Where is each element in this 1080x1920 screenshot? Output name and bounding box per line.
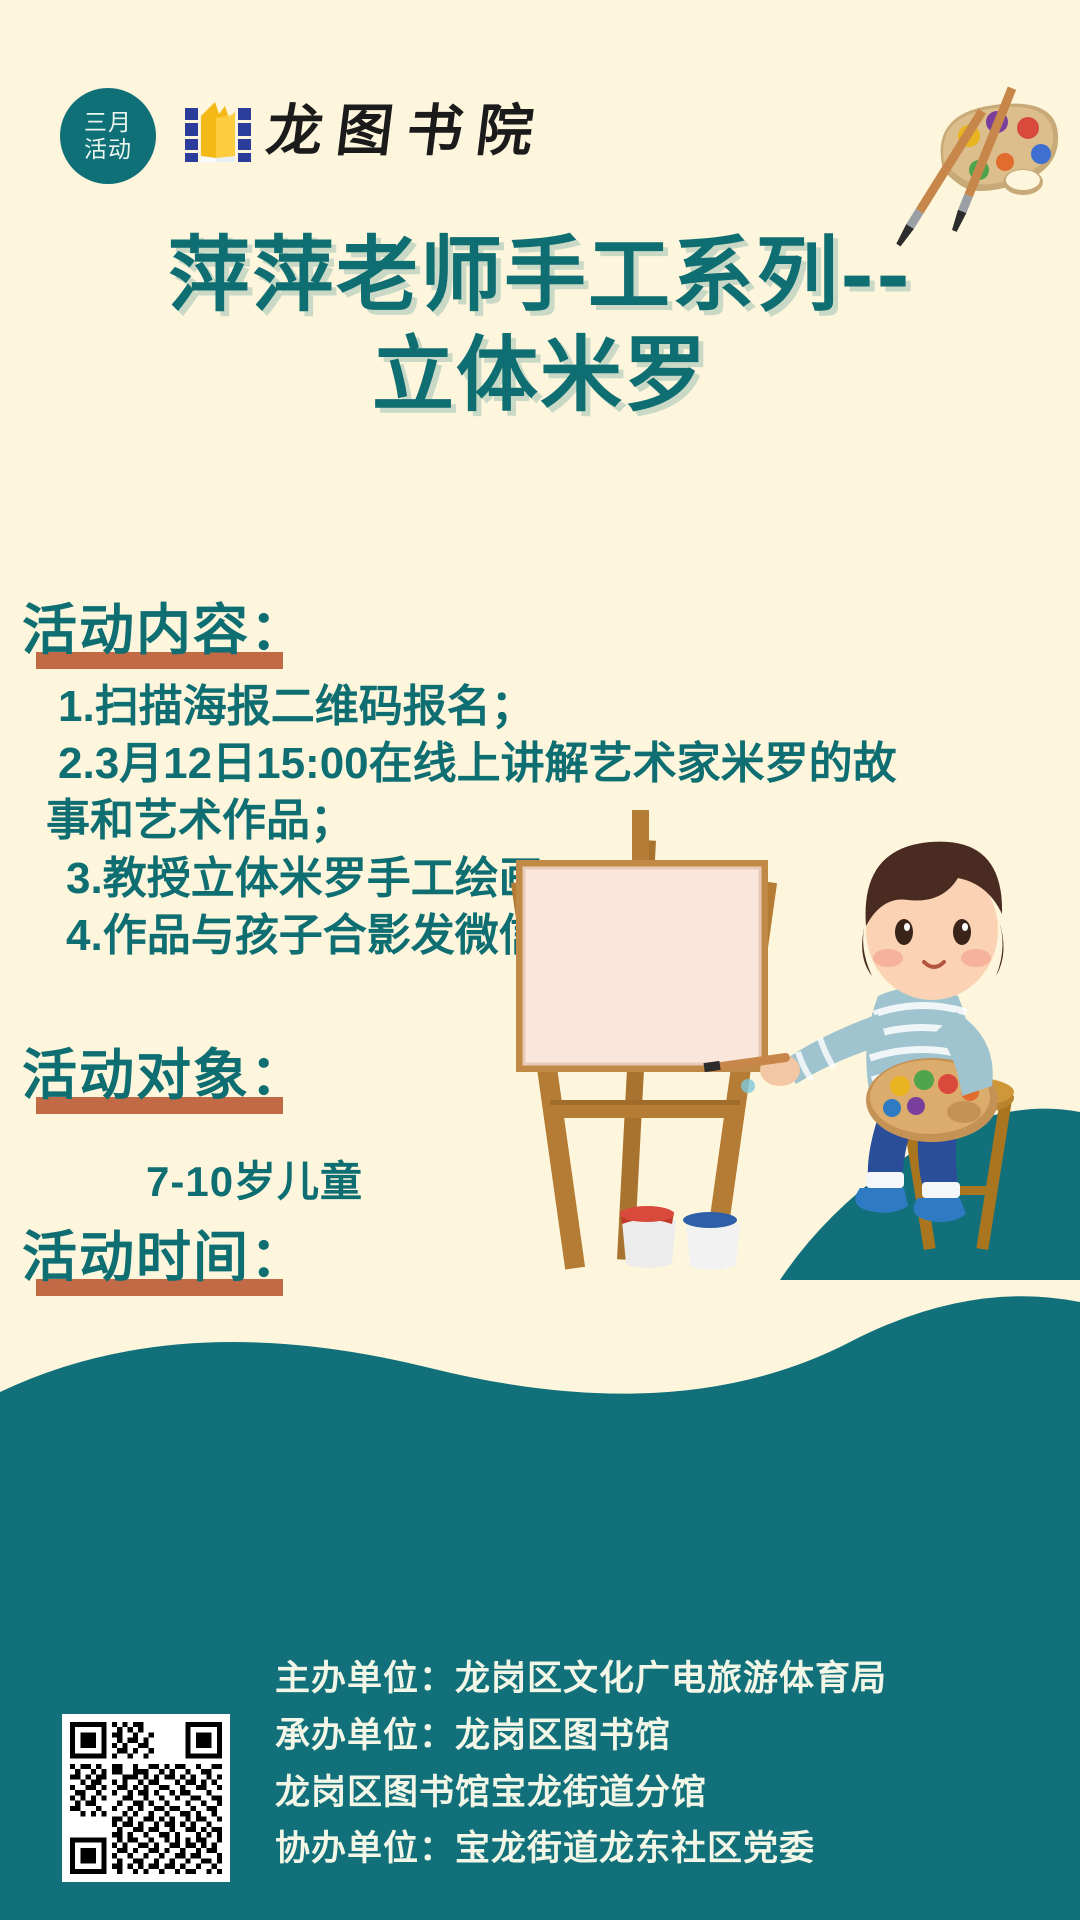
organizer-line: 龙岗区图书馆宝龙街道分馆: [275, 1765, 1065, 1822]
child-painting-illustration: [480, 800, 1080, 1280]
badge-line-2: 活动: [84, 136, 132, 163]
organizer-info: 主办单位：龙岗区文化广电旅游体育局 承办单位：龙岗区图书馆 龙岗区图书馆宝龙街道…: [275, 1651, 1065, 1878]
organizer-line: 承办单位：龙岗区图书馆: [275, 1708, 1065, 1765]
poster-canvas: 三月 活动 龙图书院: [0, 0, 1080, 1920]
heading-text: 活动对象：: [22, 1044, 307, 1106]
heading-text: 活动时间：: [22, 1226, 307, 1288]
month-badge: 三月 活动: [60, 88, 156, 184]
brand-name: 龙图书院: [264, 103, 551, 159]
qr-code[interactable]: [62, 1714, 230, 1882]
heading-text: 活动内容：: [22, 599, 307, 661]
section-heading-audience: 活动对象：: [22, 1030, 307, 1110]
audience-value: 7-10岁儿童: [146, 1148, 363, 1209]
list-item: 2.3月12日15:00在线上讲解艺术家米罗的故: [58, 735, 834, 792]
page-title: 萍萍老师手工系列-- 立体米罗: [0, 225, 1080, 425]
badge-line-1: 三月: [84, 109, 132, 136]
organizer-line: 协办单位：宝龙街道龙东社区党委: [275, 1821, 1065, 1878]
title-line-2: 立体米罗: [0, 325, 1080, 425]
brand-lockup: 龙图书院: [185, 100, 547, 162]
organizer-line: 主办单位：龙岗区文化广电旅游体育局: [275, 1651, 1065, 1708]
book-logo-icon: [185, 100, 251, 162]
section-heading-content: 活动内容：: [22, 585, 307, 665]
list-item: 1.扫描海报二维码报名；: [58, 678, 834, 735]
title-line-1: 萍萍老师手工系列--: [168, 227, 912, 323]
